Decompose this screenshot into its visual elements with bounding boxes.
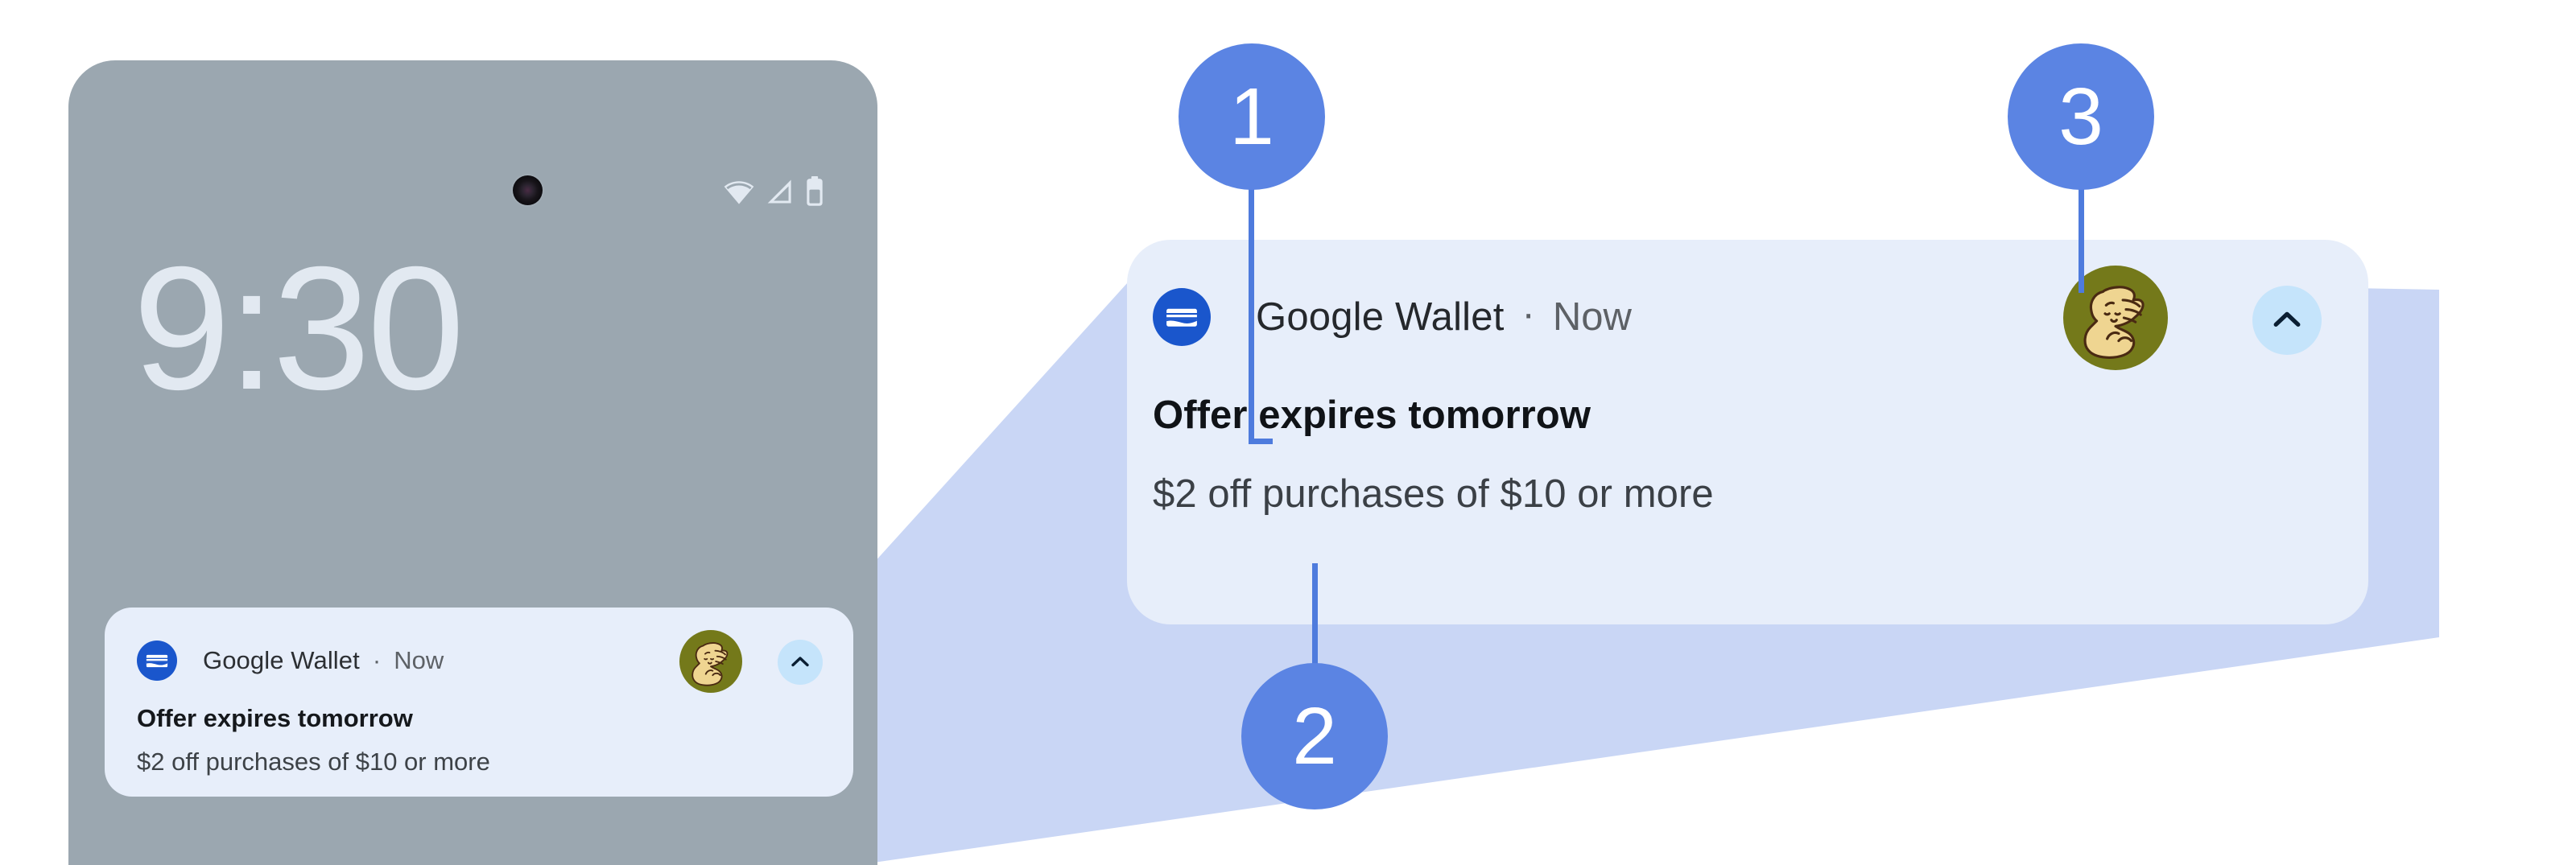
callout-badge-1[interactable]: 1 bbox=[1179, 43, 1325, 190]
google-wallet-icon bbox=[137, 641, 177, 681]
front-camera-punch-hole bbox=[513, 175, 543, 205]
expand-chevron-button[interactable] bbox=[2252, 286, 2322, 355]
phone-frame: 9:30 Google Wallet · Now bbox=[68, 60, 877, 865]
notification-header: Google Wallet · Now bbox=[137, 635, 821, 686]
expand-chevron-button[interactable] bbox=[778, 640, 823, 685]
notification-body: $2 off purchases of $10 or more bbox=[1153, 472, 2368, 517]
callout-leader-line-1 bbox=[1249, 187, 1254, 441]
notification-app-name: Google Wallet bbox=[203, 646, 360, 675]
callout-leader-line-3 bbox=[2079, 187, 2084, 293]
notification-timestamp: Now bbox=[1553, 295, 1632, 340]
status-bar bbox=[722, 173, 825, 210]
notification-title: Offer expires tomorrow bbox=[137, 704, 821, 733]
notification-card-small[interactable]: Google Wallet · Now bbox=[105, 608, 853, 797]
notification-app-name: Google Wallet bbox=[1256, 295, 1505, 340]
callout-badge-3[interactable]: 3 bbox=[2008, 43, 2154, 190]
battery-icon bbox=[804, 176, 825, 207]
cell-signal-icon bbox=[765, 178, 795, 205]
merchant-avatar bbox=[679, 630, 742, 693]
notification-header-large: Google Wallet · Now bbox=[1127, 288, 2368, 346]
callout-badge-2[interactable]: 2 bbox=[1241, 663, 1388, 809]
wifi-icon bbox=[722, 178, 756, 205]
separator-dot: · bbox=[373, 646, 381, 675]
notification-body: $2 off purchases of $10 or more bbox=[137, 748, 821, 776]
notification-title: Offer expires tomorrow bbox=[1153, 393, 2368, 438]
lock-screen-clock: 9:30 bbox=[133, 241, 461, 417]
separator-dot: · bbox=[1522, 291, 1535, 336]
callout-leader-line-2 bbox=[1312, 563, 1318, 668]
google-wallet-icon bbox=[1153, 288, 1211, 346]
notification-timestamp: Now bbox=[394, 646, 444, 675]
callout-leader-elbow-1 bbox=[1249, 439, 1273, 444]
screenshot-stage: 9:30 Google Wallet · Now bbox=[0, 0, 2576, 863]
